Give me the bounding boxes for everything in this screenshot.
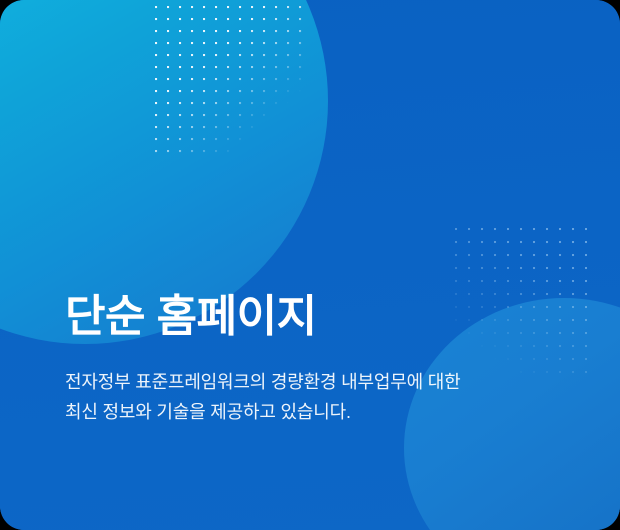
dot-grid-top-icon (155, 0, 303, 156)
hero-subtitle-line-1: 전자정부 표준프레임워크의 경량환경 내부업무에 대한 (65, 367, 575, 397)
page-title: 단순 홈페이지 (65, 288, 575, 346)
hero-banner: 단순 홈페이지 전자정부 표준프레임워크의 경량환경 내부업무에 대한 최신 정… (0, 0, 620, 530)
hero-subtitle-line-2: 최신 정보와 기술을 제공하고 있습니다. (65, 397, 575, 427)
hero-subtitle: 전자정부 표준프레임워크의 경량환경 내부업무에 대한 최신 정보와 기술을 제… (65, 346, 575, 427)
hero-content: 단순 홈페이지 전자정부 표준프레임워크의 경량환경 내부업무에 대한 최신 정… (65, 288, 575, 427)
